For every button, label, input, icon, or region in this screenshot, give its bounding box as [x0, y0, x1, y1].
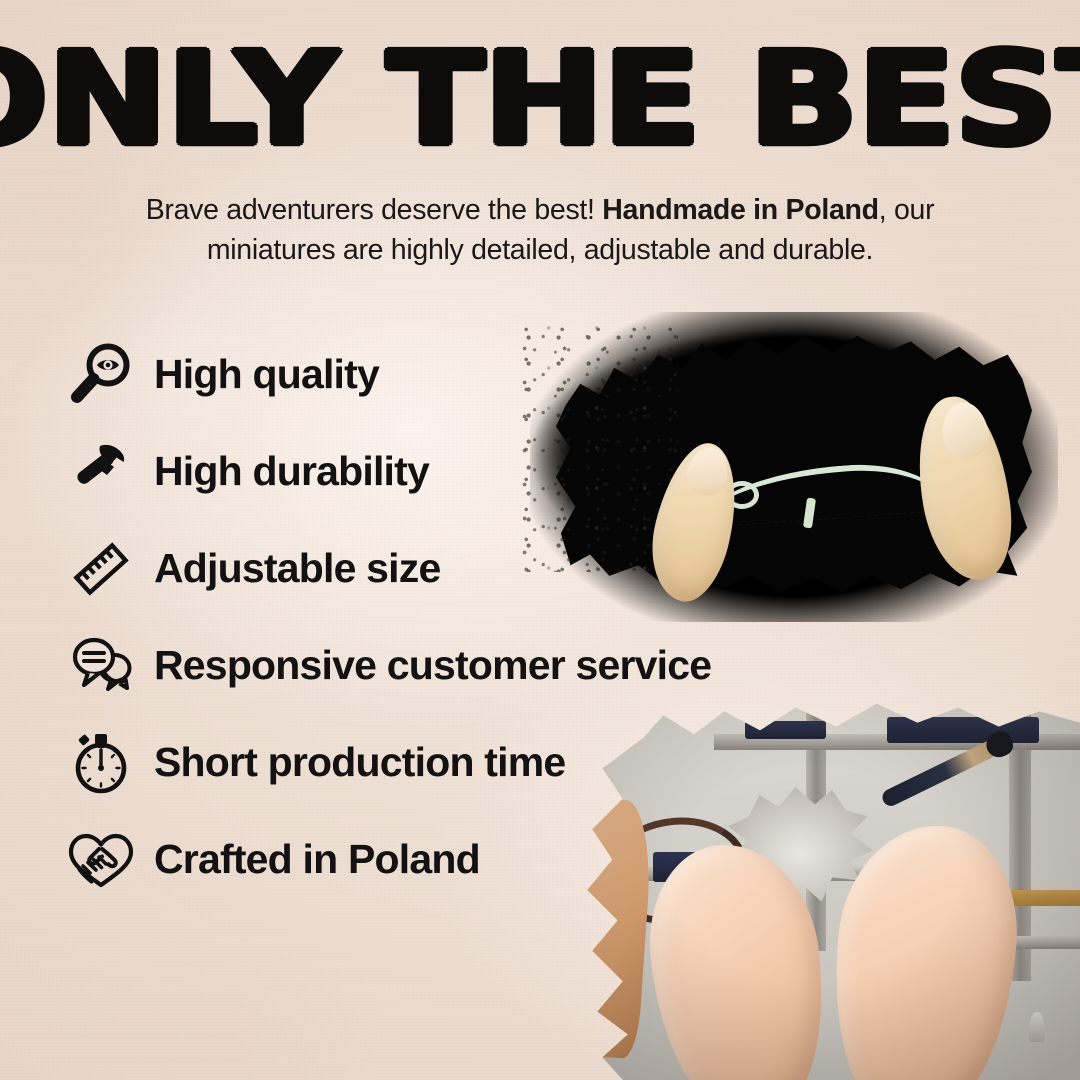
ruler-icon	[62, 530, 140, 608]
feature-list: High quality High durability	[62, 326, 802, 908]
speech-bubbles-icon	[62, 627, 140, 705]
feature-label: High quality	[154, 351, 379, 398]
feature-item-crafted-in-poland: Crafted in Poland	[62, 811, 802, 908]
page-title: ONLY THE BEST	[0, 36, 1080, 164]
feature-label: Responsive customer service	[154, 642, 711, 689]
feature-item-high-quality: High quality	[62, 326, 802, 423]
feature-item-short-production-time: Short production time	[62, 714, 802, 811]
subtitle-lead: Brave adventurers deserve the best!	[146, 194, 595, 226]
feature-label: Adjustable size	[154, 545, 440, 592]
subtitle: Brave adventurers deserve the best! Hand…	[90, 190, 990, 270]
feature-label: Crafted in Poland	[154, 836, 480, 883]
stopwatch-icon	[62, 724, 140, 802]
promo-poster: ONLY THE BEST Brave adventurers deserve …	[0, 0, 1080, 1080]
magnifier-eye-icon	[62, 336, 140, 414]
feature-item-adjustable-size: Adjustable size	[62, 520, 802, 617]
hammer-icon	[62, 433, 140, 511]
heart-handshake-icon	[62, 821, 140, 899]
feature-item-high-durability: High durability	[62, 423, 802, 520]
feature-label: High durability	[154, 448, 429, 495]
feature-item-responsive-customer-service: Responsive customer service	[62, 617, 802, 714]
feature-label: Short production time	[154, 739, 565, 786]
subtitle-emphasis: Handmade in Poland	[602, 194, 878, 226]
